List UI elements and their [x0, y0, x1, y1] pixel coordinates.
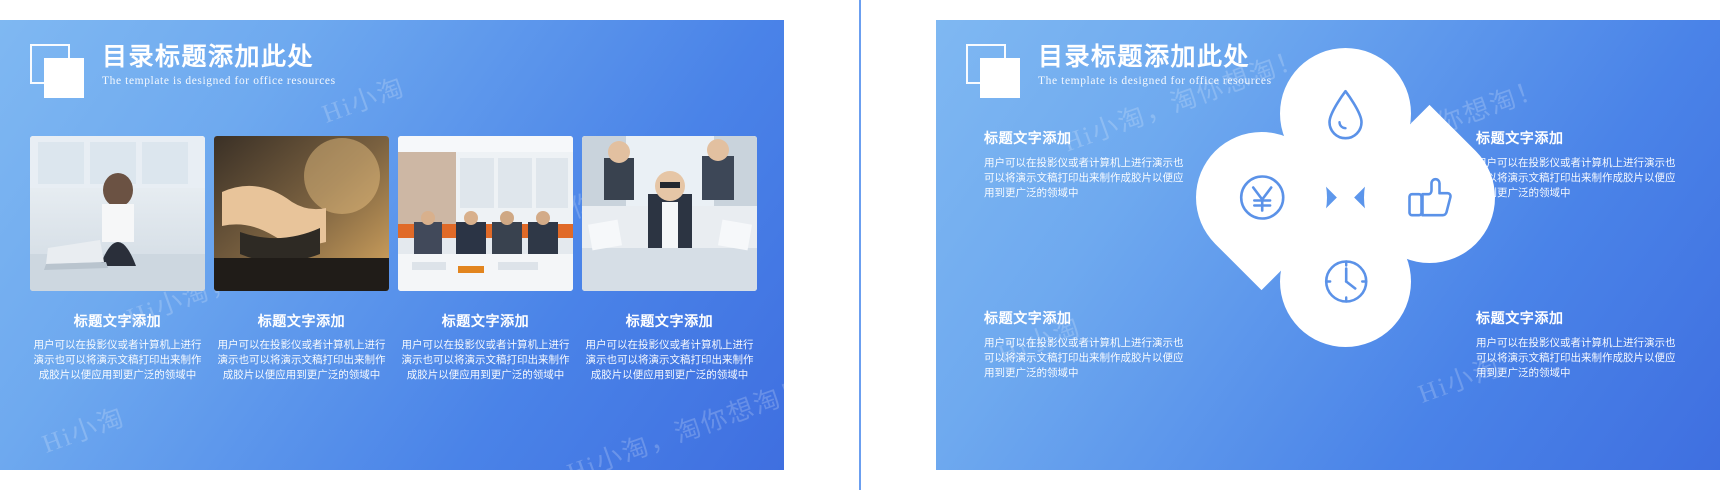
- petal-text-block: 标题文字添加 用户可以在投影仪或者计算机上进行演示也可以将演示文稿打印出来制作成…: [984, 128, 1184, 201]
- watermark: Hi小淘，淘你想淘！: [561, 368, 784, 470]
- page-subtitle: The template is designed for office reso…: [102, 75, 336, 87]
- page-title: 目录标题添加此处: [102, 42, 336, 72]
- card-title: 标题文字添加: [30, 311, 205, 331]
- card-body: 用户可以在投影仪或者计算机上进行演示也可以将演示文稿打印出来制作成胶片以便应用到…: [30, 338, 205, 383]
- petal-text-block: 标题文字添加 用户可以在投影仪或者计算机上进行演示也可以将演示文稿打印出来制作成…: [1476, 128, 1676, 201]
- card-body: 用户可以在投影仪或者计算机上进行演示也可以将演示文稿打印出来制作成胶片以便应用到…: [214, 338, 389, 383]
- block-body: 用户可以在投影仪或者计算机上进行演示也可以将演示文稿打印出来制作成胶片以便应用到…: [984, 156, 1184, 201]
- water-drop-icon: [1324, 88, 1368, 140]
- block-title: 标题文字添加: [1476, 308, 1676, 328]
- clock-icon: [1321, 257, 1371, 307]
- block-title: 标题文字添加: [984, 128, 1184, 148]
- logo-square-filled: [44, 58, 84, 98]
- watermark: Hi小淘: [36, 396, 129, 460]
- slide-four-petal-diagram: Hi小淘，淘你想淘！ Hi小淘，淘你想淘！ Hi小淘 Hi小淘 目录标题添加此处…: [936, 20, 1720, 470]
- slide-separator: [784, 0, 936, 490]
- card-title: 标题文字添加: [214, 311, 389, 331]
- team-with-documents-photo: [582, 136, 757, 291]
- businesswoman-at-laptop-photo: [30, 136, 205, 291]
- block-body: 用户可以在投影仪或者计算机上进行演示也可以将演示文稿打印出来制作成胶片以便应用到…: [1476, 336, 1676, 381]
- card-body: 用户可以在投影仪或者计算机上进行演示也可以将演示文稿打印出来制作成胶片以便应用到…: [398, 338, 573, 383]
- yen-coin-icon: [1237, 173, 1287, 223]
- photo-card[interactable]: 标题文字添加 用户可以在投影仪或者计算机上进行演示也可以将演示文稿打印出来制作成…: [398, 136, 573, 383]
- conference-room-meeting-photo: [398, 136, 573, 291]
- four-petal-diagram: [1196, 48, 1496, 348]
- slide-header: 目录标题添加此处 The template is designed for of…: [0, 20, 784, 115]
- card-body: 用户可以在投影仪或者计算机上进行演示也可以将演示文稿打印出来制作成胶片以便应用到…: [582, 338, 757, 383]
- two-squares-logo-icon: [30, 44, 92, 94]
- block-body: 用户可以在投影仪或者计算机上进行演示也可以将演示文稿打印出来制作成胶片以便应用到…: [984, 336, 1184, 381]
- petal-text-block: 标题文字添加 用户可以在投影仪或者计算机上进行演示也可以将演示文稿打印出来制作成…: [1476, 308, 1676, 381]
- card-title: 标题文字添加: [582, 311, 757, 331]
- photo-card[interactable]: 标题文字添加 用户可以在投影仪或者计算机上进行演示也可以将演示文稿打印出来制作成…: [30, 136, 205, 383]
- petal-text-block: 标题文字添加 用户可以在投影仪或者计算机上进行演示也可以将演示文稿打印出来制作成…: [984, 308, 1184, 381]
- block-body: 用户可以在投影仪或者计算机上进行演示也可以将演示文稿打印出来制作成胶片以便应用到…: [1476, 156, 1676, 201]
- block-title: 标题文字添加: [984, 308, 1184, 328]
- vertical-divider-line: [859, 0, 861, 490]
- photo-card[interactable]: 标题文字添加 用户可以在投影仪或者计算机上进行演示也可以将演示文稿打印出来制作成…: [214, 136, 389, 383]
- photo-card-list: 标题文字添加 用户可以在投影仪或者计算机上进行演示也可以将演示文稿打印出来制作成…: [30, 136, 757, 383]
- block-title: 标题文字添加: [1476, 128, 1676, 148]
- slide-catalog-photos: Hi小淘，淘你想淘！ Hi小淘，淘你想淘！ Hi小淘，淘你想淘！ Hi小淘 Hi…: [0, 20, 784, 470]
- logo-square-filled: [980, 58, 1020, 98]
- two-squares-logo-icon: [966, 44, 1028, 94]
- handshake-photo: [214, 136, 389, 291]
- photo-card[interactable]: 标题文字添加 用户可以在投影仪或者计算机上进行演示也可以将演示文稿打印出来制作成…: [582, 136, 757, 383]
- card-title: 标题文字添加: [398, 311, 573, 331]
- thumbs-up-icon: [1405, 173, 1455, 223]
